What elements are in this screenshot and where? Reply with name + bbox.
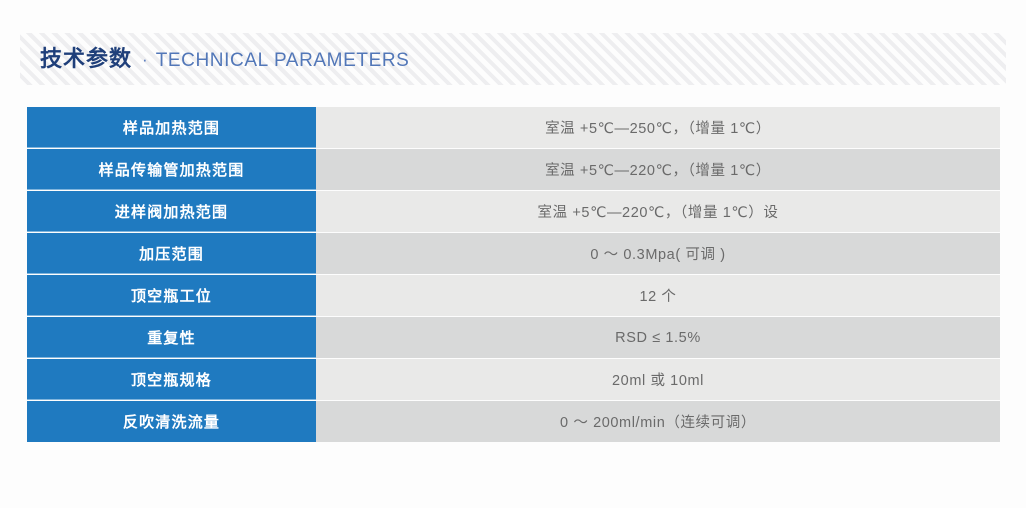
table-row: 顶空瓶工位 12 个 <box>27 275 1000 316</box>
spec-value-cell: RSD ≤ 1.5% <box>316 317 1000 358</box>
table-row: 重复性 RSD ≤ 1.5% <box>27 317 1000 358</box>
spec-value-cell: 20ml 或 10ml <box>316 359 1000 400</box>
spec-value-cell: 0 ～ 200ml/min（连续可调） <box>316 401 1000 442</box>
spec-value-cell: 室温 +5℃—220℃，（增量 1℃） <box>316 149 1000 190</box>
spec-label-cell: 顶空瓶工位 <box>27 275 316 316</box>
section-header-text-group: 技术参数 · TECHNICAL PARAMETERS <box>20 48 409 70</box>
table-row: 顶空瓶规格 20ml 或 10ml <box>27 359 1000 400</box>
spec-label-cell: 顶空瓶规格 <box>27 359 316 400</box>
spec-label-cell: 样品传输管加热范围 <box>27 149 316 190</box>
section-title-cn: 技术参数 <box>40 48 132 70</box>
spec-label-cell: 反吹清洗流量 <box>27 401 316 442</box>
table-row: 加压范围 0 ～ 0.3Mpa( 可调 ) <box>27 233 1000 274</box>
title-separator-dot-icon: · <box>142 51 148 68</box>
spec-value-cell: 室温 +5℃—220℃，（增量 1℃）设 <box>316 191 1000 232</box>
spec-value-cell: 室温 +5℃—250℃，（增量 1℃） <box>316 107 1000 148</box>
spec-value-cell: 12 个 <box>316 275 1000 316</box>
spec-label-cell: 加压范围 <box>27 233 316 274</box>
section-title-en: TECHNICAL PARAMETERS <box>156 51 410 70</box>
spec-value-cell: 0 ～ 0.3Mpa( 可调 ) <box>316 233 1000 274</box>
spec-label-cell: 样品加热范围 <box>27 107 316 148</box>
table-row: 进样阀加热范围 室温 +5℃—220℃，（增量 1℃）设 <box>27 191 1000 232</box>
table-row: 反吹清洗流量 0 ～ 200ml/min（连续可调） <box>27 401 1000 442</box>
section-header-band: 技术参数 · TECHNICAL PARAMETERS <box>20 33 1006 85</box>
table-row: 样品传输管加热范围 室温 +5℃—220℃，（增量 1℃） <box>27 149 1000 190</box>
spec-label-cell: 重复性 <box>27 317 316 358</box>
technical-parameters-page: 技术参数 · TECHNICAL PARAMETERS 样品加热范围 室温 +5… <box>0 0 1026 508</box>
spec-table: 样品加热范围 室温 +5℃—250℃，（增量 1℃） 样品传输管加热范围 室温 … <box>27 107 1000 442</box>
table-row: 样品加热范围 室温 +5℃—250℃，（增量 1℃） <box>27 107 1000 148</box>
spec-label-cell: 进样阀加热范围 <box>27 191 316 232</box>
